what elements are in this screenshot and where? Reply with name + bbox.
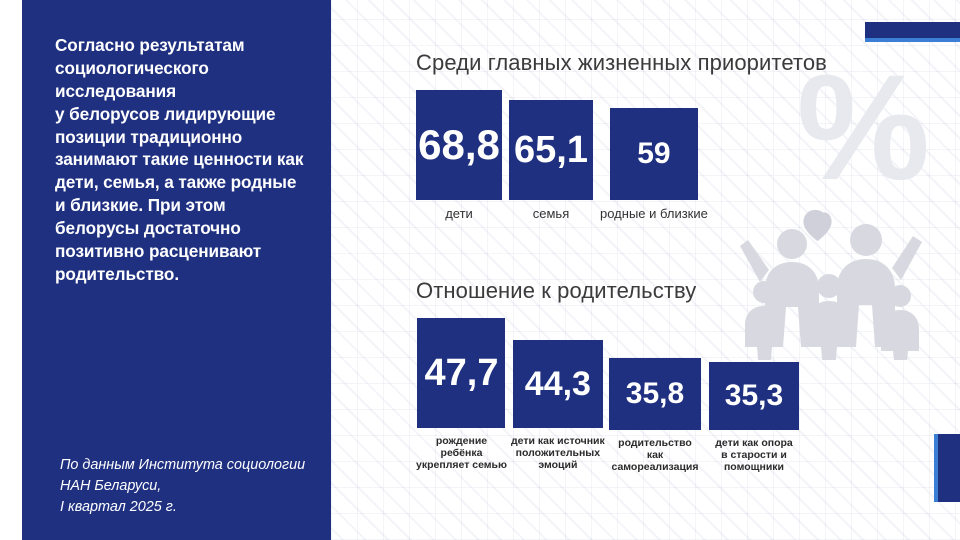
chart-2-title: Отношение к родительству bbox=[416, 278, 696, 304]
bar-label: родные и близкие bbox=[600, 207, 708, 222]
bar-label: семья bbox=[533, 207, 569, 222]
bar-value: 68,8 bbox=[416, 90, 502, 200]
bar-item: 59 родные и близкие bbox=[600, 108, 708, 222]
bottom-accent-bar-secondary bbox=[934, 434, 938, 502]
family-silhouette-icon bbox=[714, 200, 944, 360]
source-note: По данным Института социологии НАН Белар… bbox=[60, 455, 310, 518]
chart-1-title: Среди главных жизненных приоритетов bbox=[416, 50, 827, 76]
bar-item: 35,8 родительствокаксамореализация bbox=[609, 358, 701, 473]
content-area: % Среди главных жизненных приоритетов bbox=[331, 0, 960, 540]
bar-value: 47,7 bbox=[417, 318, 505, 428]
top-accent-bar-secondary bbox=[865, 38, 960, 42]
bar-value: 35,3 bbox=[709, 362, 799, 430]
bar-value: 44,3 bbox=[513, 340, 603, 428]
top-accent-bar bbox=[865, 22, 960, 38]
bar-label: дети как источникположительныхэмоций bbox=[511, 435, 605, 471]
left-panel: Согласно результатам социологического ис… bbox=[22, 0, 331, 540]
bar-label: дети как опорав старости ипомощники bbox=[715, 437, 793, 473]
bottom-accent-bar bbox=[938, 434, 960, 502]
bar-label: родительствокаксамореализация bbox=[611, 437, 698, 473]
bar-item: 44,3 дети как источникположительныхэмоци… bbox=[511, 340, 605, 471]
bar-label: дети bbox=[445, 207, 473, 222]
left-white-strip bbox=[0, 0, 22, 540]
bar-value: 65,1 bbox=[509, 100, 593, 200]
intro-paragraph: Согласно результатам социологического ис… bbox=[55, 34, 307, 286]
bar-item: 68,8 дети bbox=[416, 90, 502, 222]
bar-item: 35,3 дети как опорав старости ипомощники bbox=[709, 362, 799, 473]
bar-value: 35,8 bbox=[609, 358, 701, 430]
bar-item: 65,1 семья bbox=[509, 100, 593, 222]
bar-label: рождениеребёнкаукрепляет семью bbox=[416, 435, 507, 471]
bar-item: 47,7 рождениеребёнкаукрепляет семью bbox=[416, 318, 507, 471]
bar-value: 59 bbox=[610, 108, 698, 200]
